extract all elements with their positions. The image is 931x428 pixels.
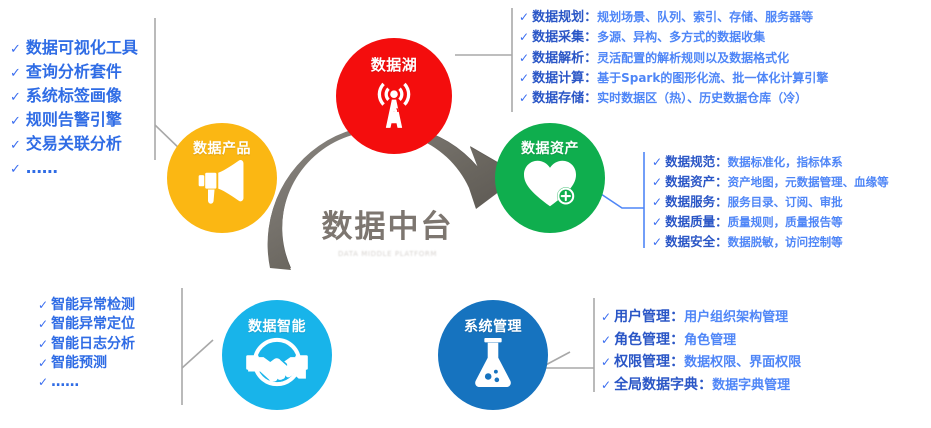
- list-item: ✓智能日志分析: [38, 335, 135, 354]
- check-icon: ✓: [38, 316, 48, 333]
- list-item: ✓数据资产：资产地图，元数据管理、血缘等: [652, 172, 889, 192]
- diagram-canvas: 数据中台 DATA MIDDLE PLATFORM 数据湖 数据资产: [0, 0, 931, 428]
- broadcast-tower-icon: [365, 77, 423, 135]
- item-key: 智能异常检测: [51, 296, 135, 315]
- leader-asset: [598, 152, 644, 248]
- item-value: 数据字典管理: [712, 375, 790, 396]
- item-key: 数据可视化工具: [26, 36, 138, 60]
- item-value: 质量规则，质量报告等: [728, 214, 843, 232]
- list-item: ✓角色管理：角色管理: [601, 329, 801, 352]
- node-data-product[interactable]: 数据产品: [167, 123, 277, 233]
- leader-system: [540, 298, 594, 392]
- item-key: 权限管理: [614, 351, 670, 374]
- item-key: 数据资产: [665, 172, 715, 192]
- item-key: 交易关联分析: [26, 132, 122, 156]
- list-item: ✓系统标签画像: [10, 84, 138, 108]
- check-icon: ✓: [652, 173, 662, 192]
- list-item: ✓数据规划：规划场景、队列、索引、存储、服务器等: [519, 8, 828, 28]
- item-separator: ：: [698, 374, 712, 397]
- node-data-asset-label: 数据资产: [521, 138, 579, 158]
- item-key: 查询分析套件: [26, 60, 122, 84]
- text-block-data-intelligence: ✓智能异常检测✓智能异常定位✓智能日志分析✓智能预测✓……: [38, 296, 135, 393]
- node-data-lake[interactable]: 数据湖: [336, 38, 452, 154]
- list-item: ✓数据解析：灵活配置的解析规则以及数据格式化: [519, 49, 828, 69]
- item-separator: ：: [715, 172, 728, 192]
- list-item: ✓交易关联分析: [10, 132, 138, 156]
- item-key: 数据采集: [532, 28, 584, 48]
- check-icon: ✓: [601, 331, 611, 350]
- item-key: 全局数据字典: [614, 374, 698, 397]
- check-icon: ✓: [10, 112, 21, 132]
- item-separator: ：: [670, 306, 684, 329]
- list-item: ✓智能预测: [38, 354, 135, 373]
- text-block-system-management: ✓用户管理：用户组织架构管理✓角色管理：角色管理✓权限管理：数据权限、界面权限✓…: [601, 306, 801, 397]
- list-item: ✓规则告警引擎: [10, 108, 138, 132]
- list-item: ✓智能异常检测: [38, 296, 135, 315]
- list-item: ✓数据服务：服务目录、订阅、审批: [652, 192, 889, 212]
- list-item: ✓数据存储：实时数据区（热）、历史数据仓库（冷）: [519, 89, 828, 109]
- check-icon: ✓: [519, 8, 529, 27]
- list-item: ✓数据质量：质量规则，质量报告等: [652, 212, 889, 232]
- center-subtitle: DATA MIDDLE PLATFORM: [338, 250, 437, 258]
- check-icon: ✓: [652, 233, 662, 252]
- item-separator: ：: [584, 49, 597, 69]
- item-value: 资产地图，元数据管理、血缘等: [728, 174, 889, 192]
- item-value: 基于Spark的图形化流、批一体化计算引擎: [597, 69, 828, 88]
- list-item: ✓用户管理：用户组织架构管理: [601, 306, 801, 329]
- check-icon: ✓: [652, 213, 662, 232]
- check-icon: ✓: [10, 160, 21, 180]
- check-icon: ✓: [519, 49, 529, 68]
- list-item: ✓全局数据字典：数据字典管理: [601, 374, 801, 397]
- item-key: 智能异常定位: [51, 315, 135, 334]
- check-icon: ✓: [601, 308, 611, 327]
- item-value: 数据标准化，指标体系: [728, 154, 843, 172]
- check-icon: ✓: [519, 69, 529, 88]
- center-title: 数据中台: [322, 212, 454, 243]
- item-key: 角色管理: [614, 329, 670, 352]
- item-value: 灵活配置的解析规则以及数据格式化: [597, 49, 789, 68]
- item-key: 规则告警引擎: [26, 108, 122, 132]
- item-separator: ：: [715, 192, 728, 212]
- item-key: 数据规划: [532, 8, 584, 28]
- check-icon: ✓: [652, 153, 662, 172]
- check-icon: ✓: [10, 64, 21, 84]
- list-item: ✓数据可视化工具: [10, 36, 138, 60]
- handshake-icon: [246, 336, 308, 388]
- item-separator: ：: [670, 351, 684, 374]
- item-key: 数据安全: [665, 232, 715, 252]
- leader-intelligence: [182, 288, 213, 405]
- item-value: 数据脱敏，访问控制等: [728, 234, 843, 252]
- item-key: 数据计算: [532, 69, 584, 89]
- item-key: ……: [26, 156, 58, 180]
- node-system-management-label: 系统管理: [464, 316, 522, 336]
- item-key: 数据解析: [532, 49, 584, 69]
- check-icon: ✓: [38, 336, 48, 353]
- check-icon: ✓: [601, 353, 611, 372]
- item-key: 数据质量: [665, 212, 715, 232]
- item-value: 服务目录、订阅、审批: [728, 194, 843, 212]
- list-item: ✓……: [38, 373, 135, 392]
- list-item: ✓……: [10, 156, 138, 180]
- leader-lake: [455, 8, 512, 112]
- node-data-intelligence-label: 数据智能: [248, 316, 306, 336]
- item-key: 系统标签画像: [26, 84, 122, 108]
- item-separator: ：: [670, 329, 684, 352]
- megaphone-icon: [194, 158, 250, 208]
- node-data-asset[interactable]: 数据资产: [495, 123, 605, 233]
- check-icon: ✓: [38, 297, 48, 314]
- item-key: 数据存储: [532, 89, 584, 109]
- item-value: 角色管理: [684, 330, 736, 351]
- check-icon: ✓: [10, 136, 21, 156]
- item-separator: ：: [584, 89, 597, 109]
- check-icon: ✓: [652, 193, 662, 212]
- check-icon: ✓: [10, 88, 21, 108]
- list-item: ✓智能异常定位: [38, 315, 135, 334]
- list-item: ✓数据采集：多源、异构、多方式的数据收集: [519, 28, 828, 48]
- item-value: 用户组织架构管理: [684, 307, 788, 328]
- heart-plus-icon: [520, 158, 580, 210]
- item-value: 规划场景、队列、索引、存储、服务器等: [597, 8, 813, 27]
- list-item: ✓数据安全：数据脱敏，访问控制等: [652, 232, 889, 252]
- item-separator: ：: [715, 152, 728, 172]
- leader-product: [155, 18, 183, 160]
- list-item: ✓数据计算：基于Spark的图形化流、批一体化计算引擎: [519, 69, 828, 89]
- item-separator: ：: [584, 8, 597, 28]
- list-item: ✓查询分析套件: [10, 60, 138, 84]
- node-system-management[interactable]: 系统管理: [438, 300, 548, 410]
- check-icon: ✓: [38, 355, 48, 372]
- flask-icon: [468, 336, 518, 390]
- list-item: ✓权限管理：数据权限、界面权限: [601, 351, 801, 374]
- node-data-product-label: 数据产品: [193, 138, 251, 158]
- item-separator: ：: [584, 28, 597, 48]
- item-value: 多源、异构、多方式的数据收集: [597, 28, 765, 47]
- item-key: 用户管理: [614, 306, 670, 329]
- node-data-lake-label: 数据湖: [371, 54, 418, 75]
- check-icon: ✓: [519, 28, 529, 47]
- item-key: 智能预测: [51, 354, 107, 373]
- item-key: 数据规范: [665, 152, 715, 172]
- text-block-data-lake: ✓数据规划：规划场景、队列、索引、存储、服务器等✓数据采集：多源、异构、多方式的…: [519, 8, 828, 109]
- check-icon: ✓: [601, 376, 611, 395]
- item-value: 实时数据区（热）、历史数据仓库（冷）: [597, 89, 807, 108]
- check-icon: ✓: [38, 374, 48, 391]
- item-separator: ：: [715, 232, 728, 252]
- center-label: 数据中台 DATA MIDDLE PLATFORM: [300, 200, 475, 270]
- text-block-data-asset: ✓数据规范：数据标准化，指标体系✓数据资产：资产地图，元数据管理、血缘等✓数据服…: [652, 152, 889, 252]
- check-icon: ✓: [10, 40, 21, 60]
- item-separator: ：: [715, 212, 728, 232]
- text-block-data-product: ✓数据可视化工具✓查询分析套件✓系统标签画像✓规则告警引擎✓交易关联分析✓……: [10, 36, 138, 180]
- node-data-intelligence[interactable]: 数据智能: [222, 300, 332, 410]
- item-key: ……: [51, 373, 79, 392]
- item-key: 智能日志分析: [51, 335, 135, 354]
- item-separator: ：: [584, 69, 597, 89]
- item-key: 数据服务: [665, 192, 715, 212]
- check-icon: ✓: [519, 89, 529, 108]
- item-value: 数据权限、界面权限: [684, 352, 801, 373]
- list-item: ✓数据规范：数据标准化，指标体系: [652, 152, 889, 172]
